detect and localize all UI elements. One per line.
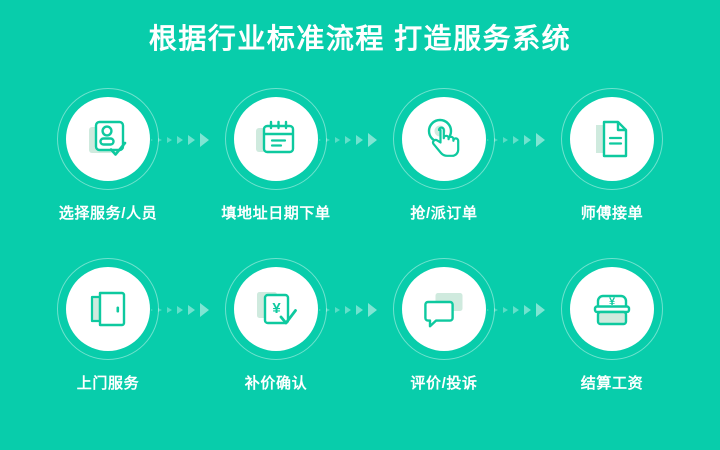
step-ring	[57, 258, 159, 360]
flow-step-label: 选择服务/人员	[59, 204, 157, 224]
step-disc	[570, 97, 654, 181]
infographic-poster: 根据行业标准流程 打造服务系统	[0, 0, 720, 450]
step-disc	[66, 97, 150, 181]
flow-step-label: 抢/派订单	[410, 204, 477, 224]
hand-tap-icon	[419, 114, 469, 164]
step-ring	[393, 88, 495, 190]
flow-step-price-confirm[interactable]: ¥ 补价确认	[192, 258, 360, 394]
step-ring: ¥	[225, 258, 327, 360]
flow-grid: 选择服务/人员	[0, 88, 720, 428]
calendar-icon	[251, 114, 301, 164]
flow-row-2: 上门服务 ¥	[0, 258, 720, 428]
svg-text:¥: ¥	[272, 300, 281, 317]
page-title: 根据行业标准流程 打造服务系统	[0, 22, 720, 56]
flow-step-review-complaint[interactable]: 评价/投诉	[360, 258, 528, 394]
step-disc	[402, 97, 486, 181]
step-disc	[66, 267, 150, 351]
documents-stack-icon	[587, 114, 637, 164]
step-disc: ¥	[570, 267, 654, 351]
flow-step-label: 师傅接单	[581, 204, 643, 224]
chat-bubbles-icon	[419, 284, 469, 334]
step-ring	[561, 88, 663, 190]
invoice-yuan-check-icon: ¥	[251, 284, 301, 334]
step-ring: ¥	[561, 258, 663, 360]
flow-step-label: 上门服务	[77, 374, 139, 394]
step-ring	[57, 88, 159, 190]
flow-step-fill-address-date[interactable]: 填地址日期下单	[192, 88, 360, 224]
flow-step-label: 结算工资	[581, 374, 643, 394]
flow-step-label: 评价/投诉	[410, 374, 477, 394]
flow-row-1: 选择服务/人员	[0, 88, 720, 258]
flow-step-label: 填地址日期下单	[221, 204, 330, 224]
flow-step-door-service[interactable]: 上门服务	[24, 258, 192, 394]
step-disc	[402, 267, 486, 351]
flow-step-label: 补价确认	[245, 374, 307, 394]
contact-card-check-icon	[83, 114, 133, 164]
step-disc: ¥	[234, 267, 318, 351]
flow-step-choose-service[interactable]: 选择服务/人员	[24, 88, 192, 224]
flow-step-worker-accepts[interactable]: 师傅接单	[528, 88, 696, 224]
step-disc	[234, 97, 318, 181]
step-ring	[393, 258, 495, 360]
wallet-yuan-icon: ¥	[587, 284, 637, 334]
step-ring	[225, 88, 327, 190]
flow-step-settle-salary[interactable]: ¥ 结算工资	[528, 258, 696, 394]
door-icon	[83, 284, 133, 334]
flow-step-grab-dispatch-order[interactable]: 抢/派订单	[360, 88, 528, 224]
